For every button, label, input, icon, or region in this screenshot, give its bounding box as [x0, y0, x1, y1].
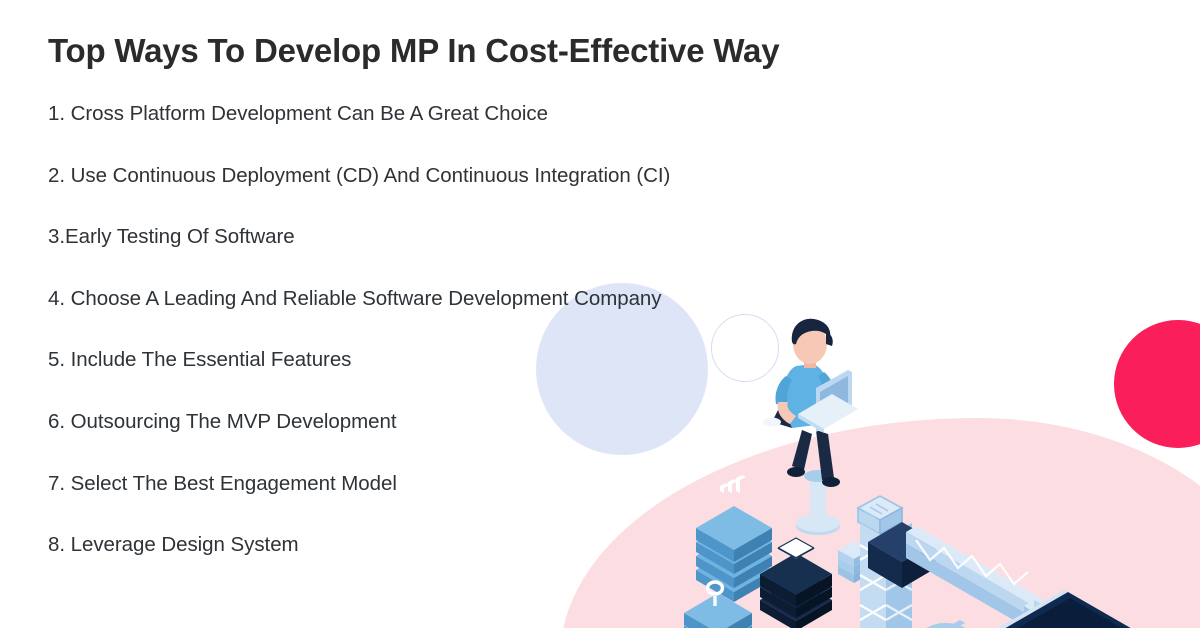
gears — [917, 620, 1014, 628]
list-item: 1. Cross Platform Development Can Be A G… — [48, 101, 848, 127]
list-item: 8. Leverage Design System — [48, 532, 848, 558]
list-item: 4. Choose A Leading And Reliable Softwar… — [48, 286, 848, 312]
list-item: 7. Select The Best Engagement Model — [48, 471, 848, 497]
page-title: Top Ways To Develop MP In Cost-Effective… — [48, 30, 808, 73]
list-item: 2. Use Continuous Deployment (CD) And Co… — [48, 163, 848, 189]
text-column: Top Ways To Develop MP In Cost-Effective… — [48, 30, 848, 558]
points-list: 1. Cross Platform Development Can Be A G… — [48, 101, 848, 558]
list-item: 3.Early Testing Of Software — [48, 224, 848, 250]
list-item: 6. Outsourcing The MVP Development — [48, 409, 848, 435]
banner-canvas: Top Ways To Develop MP In Cost-Effective… — [0, 0, 1200, 628]
list-item: 5. Include The Essential Features — [48, 347, 848, 373]
